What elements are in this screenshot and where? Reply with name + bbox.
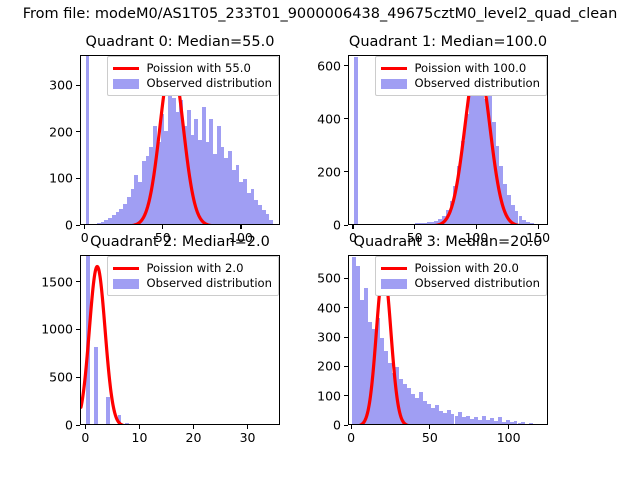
histogram-bar: [533, 424, 537, 425]
x-tick-mark: [162, 225, 163, 229]
y-tick-label: 1500: [41, 274, 73, 289]
y-tick-mark: [344, 337, 348, 338]
y-tick-mark: [76, 131, 80, 132]
legend-entry-poisson: Poission with 55.0: [113, 61, 272, 76]
figure-suptitle: From file: modeM0/AS1T05_233T01_90000064…: [23, 4, 618, 24]
subplot-title-quadrant-3: Quadrant 3: Median=20.0: [354, 234, 543, 250]
subplot-title-quadrant-1: Quadrant 1: Median=100.0: [349, 34, 547, 50]
histogram-bar: [396, 224, 400, 225]
y-tick-label: 1000: [41, 322, 73, 337]
patch-swatch-icon: [381, 79, 407, 89]
legend-label-poisson: Poission with 2.0: [146, 261, 243, 276]
x-tick-label: 20: [186, 430, 202, 445]
legend-label-poisson: Poission with 20.0: [414, 261, 518, 276]
legend-quadrant-1[interactable]: Poission with 100.0 Observed distributio…: [375, 56, 547, 96]
y-tick-mark: [344, 225, 348, 226]
subplot-title-quadrant-2: Quadrant 2: Median=2.0: [90, 234, 270, 250]
y-tick-mark: [76, 377, 80, 378]
legend-label-observed: Observed distribution: [146, 276, 272, 291]
x-tick-label: 30: [240, 430, 256, 445]
legend-quadrant-2[interactable]: Poission with 2.0 Observed distribution: [107, 256, 279, 296]
x-tick-mark: [247, 425, 248, 429]
legend-label-observed: Observed distribution: [414, 76, 540, 91]
legend-label-poisson: Poission with 100.0: [414, 61, 526, 76]
y-tick-label: 0: [65, 218, 73, 233]
histogram-bar: [408, 224, 412, 225]
x-tick-mark: [139, 425, 140, 429]
legend-entry-observed: Observed distribution: [381, 76, 540, 91]
x-tick-mark: [193, 425, 194, 429]
figure-canvas: From file: modeM0/AS1T05_233T01_90000064…: [0, 0, 640, 480]
legend-label-poisson: Poission with 55.0: [146, 61, 250, 76]
subplot-quadrant-1: Quadrant 1: Median=100.0 050100150020040…: [348, 55, 548, 225]
y-tick-mark: [344, 278, 348, 279]
patch-swatch-icon: [113, 79, 139, 89]
y-tick-mark: [344, 307, 348, 308]
histogram-bar: [400, 224, 404, 225]
x-tick-mark: [351, 425, 352, 429]
y-tick-mark: [344, 425, 348, 426]
x-tick-label: 0: [347, 430, 355, 445]
line-swatch-icon: [113, 267, 139, 270]
legend-label-observed: Observed distribution: [414, 276, 540, 291]
legend-quadrant-0[interactable]: Poission with 55.0 Observed distribution: [107, 56, 279, 96]
y-tick-label: 300: [49, 78, 73, 93]
y-tick-label: 200: [317, 164, 341, 179]
y-tick-label: 400: [317, 111, 341, 126]
y-tick-mark: [344, 366, 348, 367]
x-tick-label: 10: [132, 430, 148, 445]
y-tick-label: 200: [49, 124, 73, 139]
legend-quadrant-3[interactable]: Poission with 20.0 Observed distribution: [375, 256, 547, 296]
legend-entry-observed: Observed distribution: [381, 276, 540, 291]
x-tick-mark: [476, 225, 477, 229]
legend-entry-poisson: Poission with 100.0: [381, 61, 540, 76]
y-tick-label: 400: [317, 300, 341, 315]
subplot-quadrant-3: Quadrant 3: Median=20.0 0501000100200300…: [348, 255, 548, 425]
histogram-bar: [93, 224, 97, 225]
line-swatch-icon: [381, 267, 407, 270]
subplot-quadrant-0: Quadrant 0: Median=55.0 0501000100200300…: [80, 55, 280, 225]
patch-swatch-icon: [381, 279, 407, 289]
subplot-quadrant-2: Quadrant 2: Median=2.0 01020300500100015…: [80, 255, 280, 425]
line-swatch-icon: [113, 67, 139, 70]
patch-swatch-icon: [113, 279, 139, 289]
y-tick-label: 0: [333, 418, 341, 433]
y-tick-label: 0: [333, 218, 341, 233]
x-tick-label: 50: [422, 430, 438, 445]
x-tick-mark: [429, 425, 430, 429]
histogram-bar: [89, 224, 93, 225]
legend-entry-observed: Observed distribution: [113, 276, 272, 291]
x-tick-mark: [84, 225, 85, 229]
histogram-bar: [404, 224, 408, 225]
y-tick-label: 200: [317, 359, 341, 374]
y-tick-mark: [76, 178, 80, 179]
y-tick-mark: [76, 329, 80, 330]
x-tick-label: 0: [81, 230, 89, 245]
x-tick-mark: [240, 225, 241, 229]
y-tick-mark: [76, 225, 80, 226]
histogram-bar: [392, 224, 396, 225]
y-tick-mark: [76, 85, 80, 86]
x-tick-label: 100: [497, 430, 521, 445]
legend-entry-poisson: Poission with 2.0: [113, 261, 272, 276]
y-tick-label: 300: [317, 330, 341, 345]
x-tick-mark: [85, 425, 86, 429]
y-tick-label: 100: [49, 171, 73, 186]
y-tick-label: 500: [49, 370, 73, 385]
x-tick-mark: [414, 225, 415, 229]
y-tick-label: 600: [317, 58, 341, 73]
y-tick-label: 500: [317, 271, 341, 286]
y-tick-label: 0: [65, 418, 73, 433]
y-tick-mark: [344, 118, 348, 119]
y-tick-mark: [76, 425, 80, 426]
line-swatch-icon: [381, 67, 407, 70]
y-tick-mark: [76, 281, 80, 282]
legend-entry-poisson: Poission with 20.0: [381, 261, 540, 276]
subplot-title-quadrant-0: Quadrant 0: Median=55.0: [86, 34, 275, 50]
x-tick-mark: [352, 225, 353, 229]
y-tick-label: 100: [317, 388, 341, 403]
x-tick-mark: [538, 225, 539, 229]
y-tick-mark: [344, 395, 348, 396]
y-tick-mark: [344, 65, 348, 66]
legend-entry-observed: Observed distribution: [113, 76, 272, 91]
x-tick-label: 0: [81, 430, 89, 445]
legend-label-observed: Observed distribution: [146, 76, 272, 91]
y-tick-mark: [344, 171, 348, 172]
x-tick-mark: [508, 425, 509, 429]
